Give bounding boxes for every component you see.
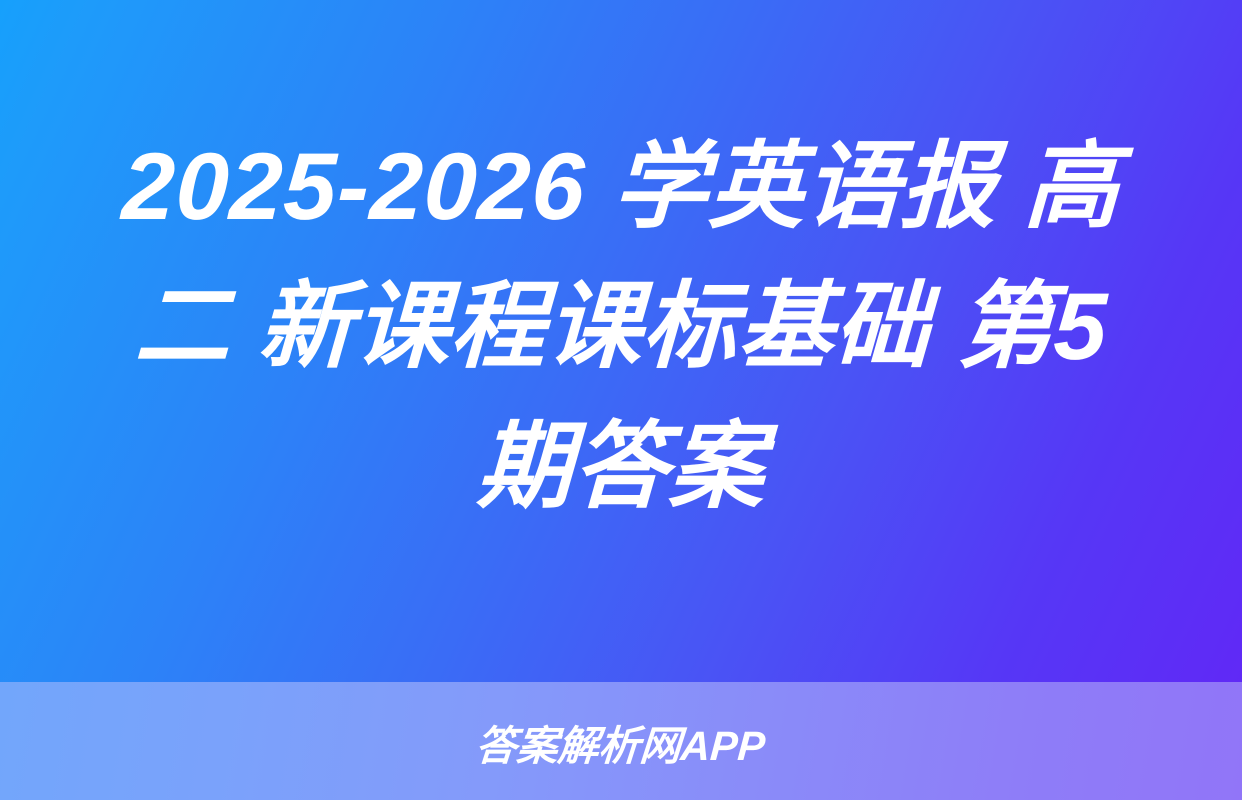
promo-banner: 2025-2026 学英语报 高 二 新课程课标基础 第5 期答案 答案解析网A… xyxy=(0,0,1242,800)
banner-title-line-1: 2025-2026 学英语报 高 xyxy=(119,117,1122,257)
banner-title-line-3: 期答案 xyxy=(475,397,768,537)
app-name-label: 答案解析网APP xyxy=(474,712,768,772)
banner-title-line-2: 二 新课程课标基础 第5 xyxy=(132,257,1110,397)
footer-branding-band: 答案解析网APP xyxy=(0,682,1242,800)
banner-title-block: 2025-2026 学英语报 高 二 新课程课标基础 第5 期答案 xyxy=(0,0,1242,682)
